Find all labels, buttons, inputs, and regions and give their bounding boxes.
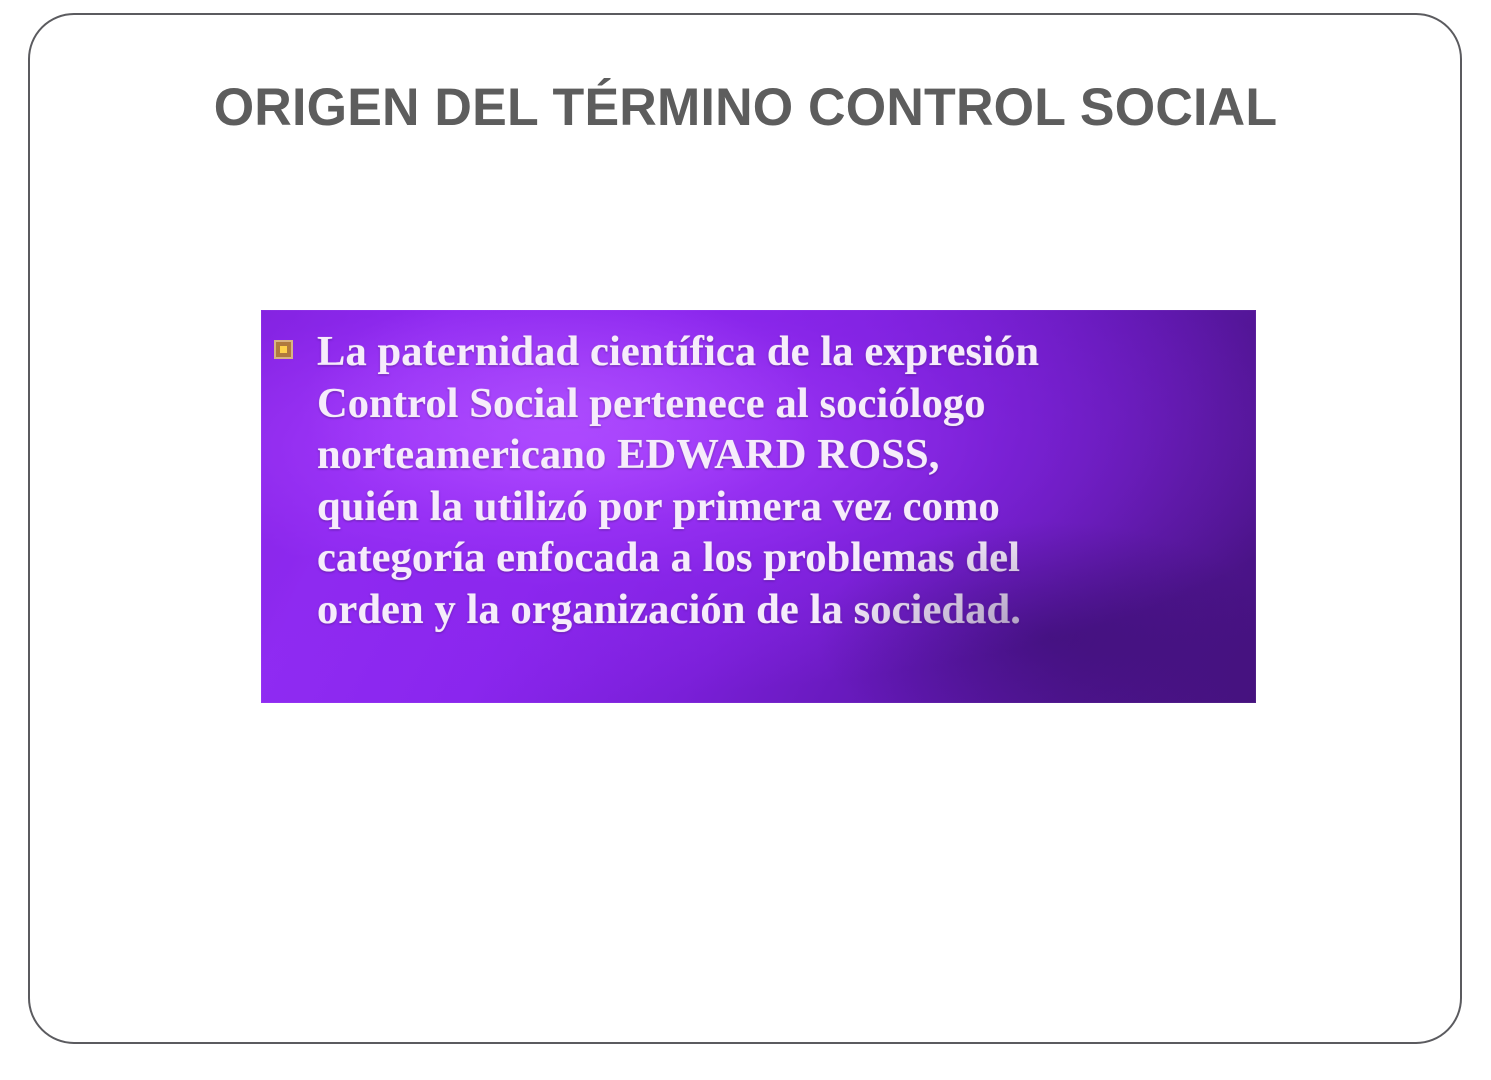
square-bullet-icon [274, 340, 293, 359]
content-image-block: La paternidad científica de la expresión… [261, 310, 1256, 703]
slide-canvas: ORIGEN DEL TÉRMINO CONTROL SOCIAL La pat… [0, 0, 1491, 1080]
bullet-paragraph: La paternidad científica de la expresión… [261, 310, 1256, 703]
square-bullet-icon-core [280, 346, 287, 353]
bullet-body-text: La paternidad científica de la expresión… [317, 326, 1242, 635]
page-title: ORIGEN DEL TÉRMINO CONTROL SOCIAL [15, 78, 1476, 137]
